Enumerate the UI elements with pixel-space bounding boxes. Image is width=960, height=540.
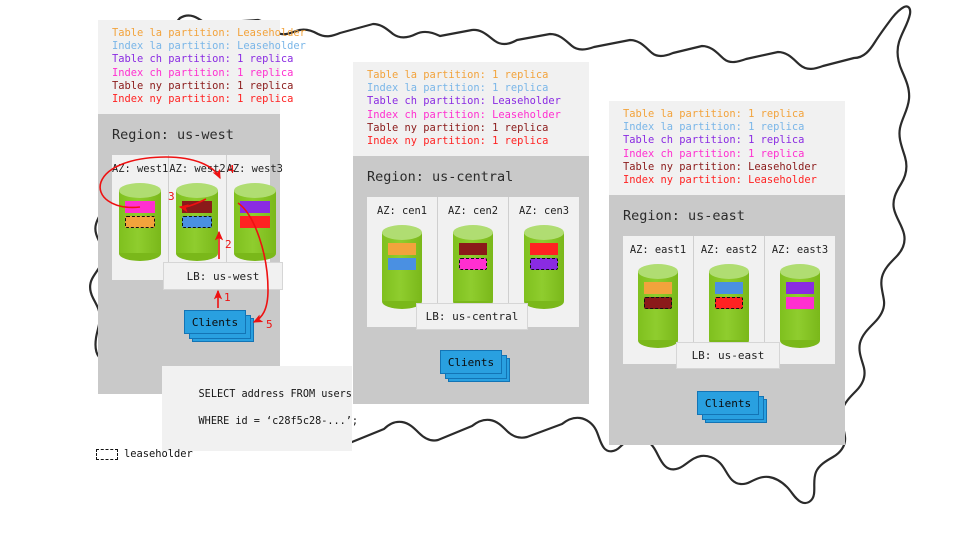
region-title: Region: us-west [98,114,280,143]
replica-bar [125,201,155,213]
replica-bar [388,258,416,270]
database-cylinder-icon [119,183,161,261]
partition-line: Table la partition: 1 replica [623,108,835,121]
database-cylinder-icon [234,183,276,261]
partition-line: Index la partition: 1 replica [367,82,579,95]
region-title: Region: us-east [609,195,845,224]
az-label: AZ: cen2 [448,205,498,217]
az-label: AZ: east1 [630,244,686,256]
partition-line: Table ny partition: 1 replica [367,122,579,135]
clients-label: Clients [440,350,502,374]
replica-bar-leaseholder [125,216,155,228]
az-label: AZ: west1 [112,163,168,175]
clients-label: Clients [697,391,759,415]
replica-bar-leaseholder [644,297,672,309]
partition-legend-us-central: Table la partition: 1 replicaIndex la pa… [353,62,589,156]
az-label: AZ: east2 [701,244,757,256]
partition-line: Index ch partition: 1 replica [112,67,270,80]
replica-bars [709,282,749,309]
database-cylinder-icon [524,225,564,309]
replica-bar [530,243,558,255]
partition-line: Table ch partition: 1 replica [623,134,835,147]
az-cell-west1[interactable]: AZ: west1 [112,155,169,280]
replica-bar [644,282,672,294]
leaseholder-legend: leaseholder [96,448,193,460]
arrow-label-4: 4 [228,163,235,176]
replica-bar [786,297,814,309]
arrow-label-1: 1 [224,291,231,304]
region-box-us-west: Region: us-west AZ: west1AZ: west2AZ: we… [98,114,280,394]
replica-bar [240,216,270,228]
az-label: AZ: west2 [169,163,225,175]
partition-line: Index ch partition: Leaseholder [367,109,579,122]
clients-us-east[interactable]: Clients [697,391,767,423]
partition-line: Index ny partition: Leaseholder [623,174,835,187]
sql-line-1: SELECT address FROM users [199,389,352,400]
sql-query-box: SELECT address FROM users WHERE id = ‘c2… [162,366,352,451]
leaseholder-legend-label: leaseholder [124,448,193,460]
replica-bar [459,243,487,255]
replica-bar-leaseholder [530,258,558,270]
partition-line: Table la partition: Leaseholder [112,27,270,40]
arrow-label-3: 3 [168,190,175,203]
lb-us-central[interactable]: LB: us-central [416,303,528,330]
partition-line: Index la partition: 1 replica [623,121,835,134]
partition-line: Index ny partition: 1 replica [112,93,270,106]
arrow-label-5: 5 [266,318,273,331]
region-title: Region: us-central [353,156,589,185]
dashed-rect-icon [96,449,118,460]
database-cylinder-icon [638,264,678,348]
lb-us-east[interactable]: LB: us-east [676,342,780,369]
replica-bar-leaseholder [182,216,212,228]
clients-us-central[interactable]: Clients [440,350,510,382]
replica-bars [176,201,218,228]
replica-bar-leaseholder [459,258,487,270]
partition-line: Table la partition: 1 replica [367,69,579,82]
partition-line: Table ch partition: 1 replica [112,53,270,66]
partition-line: Index ch partition: 1 replica [623,148,835,161]
partition-legend-us-west: Table la partition: LeaseholderIndex la … [98,20,280,114]
replica-bars [453,243,493,270]
lb-us-west[interactable]: LB: us-west [163,262,283,290]
az-label: AZ: cen3 [519,205,569,217]
database-cylinder-icon [176,183,218,261]
replica-bars [382,243,422,270]
replica-bar [240,201,270,213]
replica-bar [182,201,212,213]
partition-line: Table ch partition: Leaseholder [367,95,579,108]
replica-bar-leaseholder [715,297,743,309]
replica-bar [388,243,416,255]
database-cylinder-icon [382,225,422,309]
sql-line-2: WHERE id = ‘c28f5c28-...’; [199,416,358,427]
replica-bars [234,201,276,228]
partition-line: Table ny partition: Leaseholder [623,161,835,174]
replica-bar [786,282,814,294]
replica-bars [638,282,678,309]
database-cylinder-icon [453,225,493,309]
partition-line: Index la partition: Leaseholder [112,40,270,53]
database-cylinder-icon [709,264,749,348]
diagram-canvas: Table la partition: LeaseholderIndex la … [0,0,960,540]
replica-bars [780,282,820,309]
replica-bar [715,282,743,294]
partition-line: Index ny partition: 1 replica [367,135,579,148]
az-label: AZ: cen1 [377,205,427,217]
replica-bars [119,201,161,228]
replica-bars [524,243,564,270]
clients-us-west[interactable]: Clients [184,310,254,342]
partition-legend-us-east: Table la partition: 1 replicaIndex la pa… [609,101,845,195]
arrow-label-2: 2 [225,238,232,251]
az-label: AZ: west3 [227,163,283,175]
clients-label: Clients [184,310,246,334]
database-cylinder-icon [780,264,820,348]
partition-line: Table ny partition: 1 replica [112,80,270,93]
az-label: AZ: east3 [772,244,828,256]
